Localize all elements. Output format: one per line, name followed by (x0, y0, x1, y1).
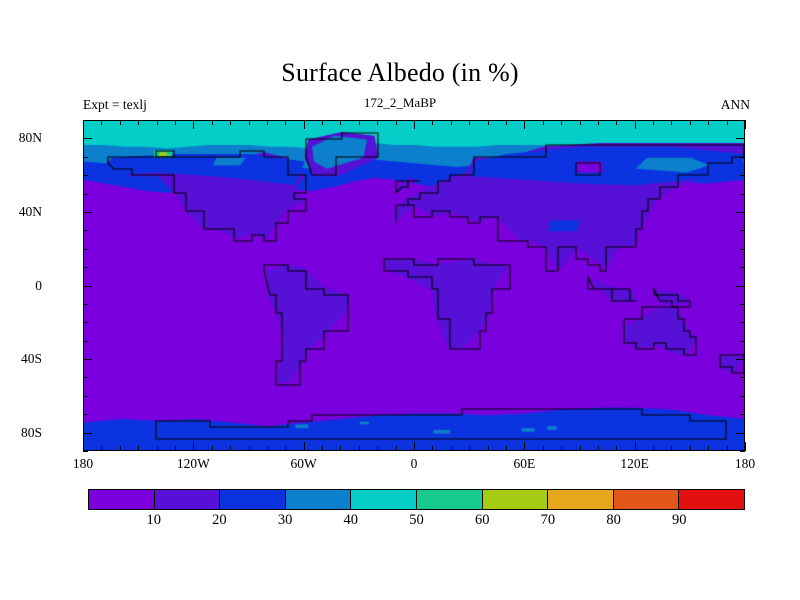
axis-tick (708, 120, 709, 125)
axis-tick (740, 194, 745, 195)
axis-tick (543, 120, 544, 125)
axis-tick (740, 267, 745, 268)
axis-tick (83, 138, 92, 139)
axis-tick (616, 120, 617, 125)
axis-tick (488, 120, 489, 125)
x-axis-label: 120E (595, 456, 675, 472)
axis-tick (740, 175, 745, 176)
colorbar-band (483, 490, 549, 509)
axis-tick (506, 120, 507, 125)
albedo-map-plot (83, 120, 745, 451)
y-axis-label: 40S (0, 351, 42, 367)
axis-tick (157, 446, 158, 451)
axis-tick (396, 120, 397, 125)
axis-tick (249, 120, 250, 125)
axis-tick (83, 359, 92, 360)
y-axis-label: 80S (0, 425, 42, 441)
axis-tick (543, 446, 544, 451)
axis-tick (175, 120, 176, 125)
axis-tick (740, 120, 745, 121)
axis-tick (740, 322, 745, 323)
axis-tick (736, 212, 745, 213)
axis-tick (83, 414, 88, 415)
axis-tick (740, 414, 745, 415)
axis-tick (740, 341, 745, 342)
axis-tick (616, 446, 617, 451)
axis-tick (193, 120, 194, 129)
axis-tick (740, 249, 745, 250)
axis-tick (635, 442, 636, 451)
colorbar-band (548, 490, 614, 509)
axis-tick (230, 446, 231, 451)
colorbar-band (351, 490, 417, 509)
axis-tick (340, 446, 341, 451)
x-axis-label: 120W (153, 456, 233, 472)
axis-tick (736, 433, 745, 434)
x-axis-label: 0 (374, 456, 454, 472)
axis-tick (83, 157, 88, 158)
axis-tick (432, 120, 433, 125)
axis-tick (138, 446, 139, 451)
axis-tick (653, 446, 654, 451)
axis-tick (727, 446, 728, 451)
axis-tick (359, 120, 360, 125)
axis-tick (745, 442, 746, 451)
y-axis-label: 0 (0, 278, 42, 294)
axis-tick (120, 446, 121, 451)
axis-tick (451, 446, 452, 451)
albedo-field-canvas (84, 121, 745, 451)
chart-subtitle: 172_2_MaBP (0, 95, 800, 111)
axis-tick (340, 120, 341, 125)
axis-tick (249, 446, 250, 451)
axis-tick (83, 175, 88, 176)
axis-tick (740, 304, 745, 305)
colorbar-tick-label: 90 (649, 512, 709, 529)
axis-tick (708, 446, 709, 451)
x-axis-label: 180 (43, 456, 123, 472)
colorbar-tick-label: 80 (584, 512, 644, 529)
axis-tick (469, 120, 470, 125)
axis-tick (83, 120, 84, 129)
axis-tick (598, 446, 599, 451)
axis-tick (267, 120, 268, 125)
colorbar-band (89, 490, 155, 509)
axis-tick (580, 120, 581, 125)
axis-tick (83, 304, 88, 305)
axis-tick (432, 446, 433, 451)
axis-tick (524, 120, 525, 129)
axis-tick (83, 249, 88, 250)
axis-tick (83, 267, 88, 268)
axis-tick (727, 120, 728, 125)
axis-tick (635, 120, 636, 129)
axis-tick (671, 120, 672, 125)
x-axis-label: 60E (484, 456, 564, 472)
axis-tick (671, 446, 672, 451)
x-axis-label: 180 (705, 456, 785, 472)
colorbar (88, 489, 745, 510)
axis-tick (83, 322, 88, 323)
axis-tick (83, 194, 88, 195)
axis-tick (83, 433, 92, 434)
axis-tick (101, 446, 102, 451)
axis-tick (740, 396, 745, 397)
colorbar-band (614, 490, 680, 509)
axis-tick (561, 446, 562, 451)
axis-tick (157, 120, 158, 125)
colorbar-tick-label: 30 (255, 512, 315, 529)
axis-tick (488, 446, 489, 451)
axis-tick (736, 359, 745, 360)
axis-tick (193, 442, 194, 451)
axis-tick (101, 120, 102, 125)
colorbar-tick-label: 10 (124, 512, 184, 529)
axis-tick (377, 120, 378, 125)
colorbar-band (155, 490, 221, 509)
axis-tick (598, 120, 599, 125)
axis-tick (83, 396, 88, 397)
axis-tick (322, 120, 323, 125)
axis-tick (83, 120, 88, 121)
axis-tick (414, 442, 415, 451)
axis-tick (736, 138, 745, 139)
page-title: Surface Albedo (in %) (0, 58, 800, 88)
axis-tick (230, 120, 231, 125)
axis-tick (175, 446, 176, 451)
axis-tick (690, 446, 691, 451)
axis-tick (736, 286, 745, 287)
y-axis-label: 40N (0, 204, 42, 220)
axis-tick (740, 377, 745, 378)
axis-tick (506, 446, 507, 451)
axis-tick (580, 446, 581, 451)
colorbar-band (417, 490, 483, 509)
axis-tick (285, 446, 286, 451)
axis-tick (83, 442, 84, 451)
axis-tick (653, 120, 654, 125)
colorbar-band (220, 490, 286, 509)
axis-tick (285, 120, 286, 125)
axis-tick (359, 446, 360, 451)
axis-tick (451, 120, 452, 125)
axis-tick (740, 157, 745, 158)
period-label: ANN (721, 97, 750, 113)
axis-tick (740, 230, 745, 231)
axis-tick (304, 442, 305, 451)
axis-tick (377, 446, 378, 451)
axis-tick (267, 446, 268, 451)
axis-tick (304, 120, 305, 129)
colorbar-tick-label: 60 (452, 512, 512, 529)
axis-tick (83, 377, 88, 378)
axis-tick (83, 212, 92, 213)
colorbar-tick-label: 50 (387, 512, 447, 529)
colorbar-tick-label: 40 (321, 512, 381, 529)
axis-tick (561, 120, 562, 125)
colorbar-tick-label: 20 (189, 512, 249, 529)
axis-tick (83, 341, 88, 342)
axis-tick (469, 446, 470, 451)
colorbar-band (679, 490, 744, 509)
axis-tick (740, 451, 745, 452)
x-axis-label: 60W (264, 456, 344, 472)
axis-tick (396, 446, 397, 451)
axis-tick (212, 120, 213, 125)
colorbar-band (286, 490, 352, 509)
axis-tick (138, 120, 139, 125)
axis-tick (524, 442, 525, 451)
axis-tick (745, 120, 746, 129)
axis-tick (212, 446, 213, 451)
y-axis-label: 80N (0, 130, 42, 146)
axis-tick (414, 120, 415, 129)
axis-tick (83, 286, 92, 287)
axis-tick (83, 451, 88, 452)
axis-tick (322, 446, 323, 451)
axis-tick (690, 120, 691, 125)
axis-tick (83, 230, 88, 231)
axis-tick (120, 120, 121, 125)
colorbar-tick-label: 70 (518, 512, 578, 529)
